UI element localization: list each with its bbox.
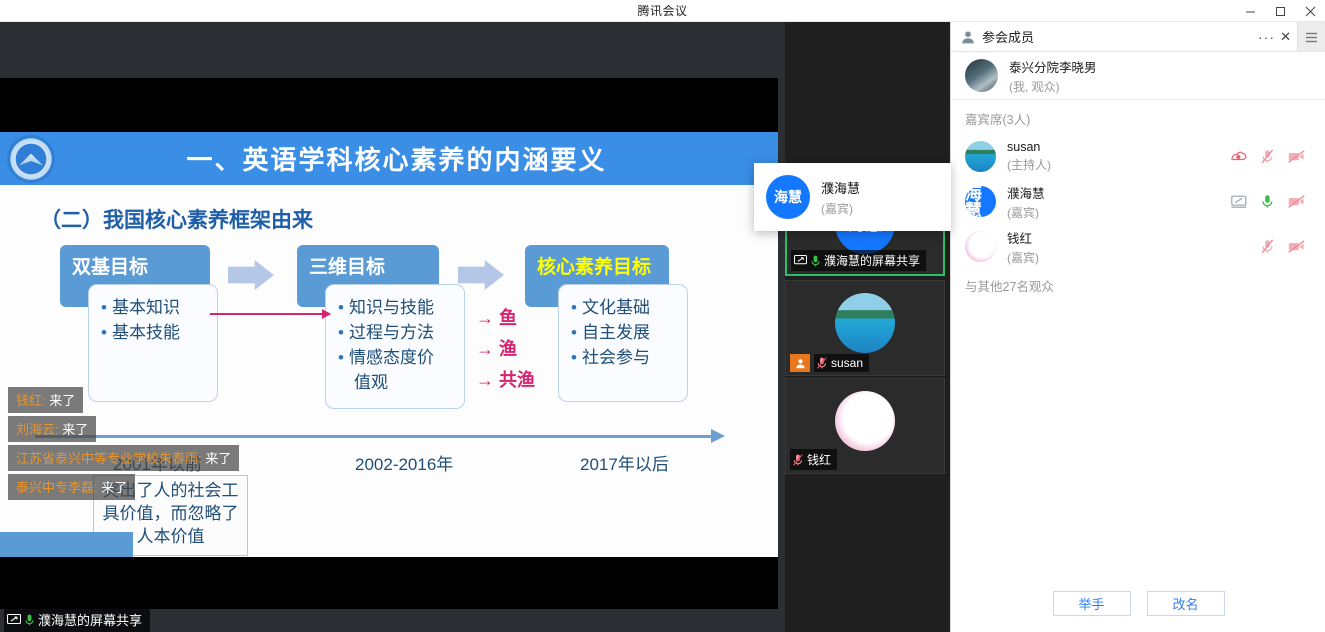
thumbnail-tile-qianhong[interactable]: 钱红 [785,378,945,474]
participant-names: 钱红 (嘉宾) [1007,228,1250,266]
thumbnail-label: susan [831,356,863,370]
list-item: •基本知识 [101,295,203,320]
pink-connector-arrow-icon [210,313,330,315]
slide-header: 一、英语学科核心素养的内涵要义 [0,132,778,185]
mic-off-icon[interactable] [1261,149,1274,164]
avatar [965,141,996,172]
participant-row[interactable]: susan (主持人) [951,134,1325,179]
mic-off-icon [793,454,803,466]
slide-title: 一、英语学科核心素养的内涵要义 [55,140,778,177]
participant-name: 濮海慧 [1007,183,1220,202]
pink-annotation-1: → 鱼 [476,304,517,330]
camera-off-icon[interactable] [1288,195,1305,208]
mic-off-icon[interactable] [1261,239,1274,254]
panel-more-button[interactable]: ··· [1258,29,1275,45]
pink-annotation-2: → 渔 [476,335,517,361]
mic-on-icon [25,614,34,626]
minimize-button[interactable] [1235,0,1265,22]
record-icon[interactable] [1231,150,1247,163]
timeline-label-3: 2017年以后 [580,450,669,475]
screen-share-icon[interactable] [1231,195,1247,208]
panel-close-button[interactable]: ✕ [1280,29,1291,45]
slide-column-2: 三维目标 •知识与技能 •过程与方法 •情感态度价 值观 [297,245,439,307]
camera-off-icon[interactable] [1288,150,1305,163]
participant-hover-tooltip: 海慧 濮海慧 (嘉宾) [754,163,951,231]
window-titlebar: 腾讯会议 [0,0,1325,22]
avatar: 海慧 [766,175,810,219]
self-names: 泰兴分院李晓男 (我, 观众) [1009,57,1097,95]
column-2-body: •知识与技能 •过程与方法 •情感态度价 值观 [325,284,465,409]
panel-footer: 举手 改名 [951,574,1325,632]
share-banner-label: 濮海慧的屏幕共享 [38,610,142,629]
chat-text: 来了 [49,393,75,408]
thumbnail-tile-susan[interactable]: susan [785,280,945,376]
participant-name: susan [1007,140,1220,154]
mic-on-icon[interactable] [1261,194,1274,209]
panel-title: 参会成员 [982,27,1034,46]
chat-text: 来了 [205,451,231,466]
avatar [835,293,895,353]
participant-name: 钱红 [1007,228,1250,247]
thumbnail-label: 濮海慧的屏幕共享 [824,252,920,269]
bullet-dot-icon: • [571,348,577,367]
rename-button[interactable]: 改名 [1147,591,1225,616]
bullet-dot-icon: • [571,323,577,342]
mic-off-icon [817,357,827,369]
avatar: 海慧 [965,186,996,217]
stage-letterbox-top [0,78,778,132]
person-icon [961,30,975,44]
participant-names: 濮海慧 (嘉宾) [1007,183,1220,221]
guest-section-label: 嘉宾席(3人) [951,100,1325,134]
screen-share-icon [794,255,807,266]
timeline-axis [35,435,715,438]
window-controls [1235,0,1325,22]
participant-status-icons [1231,149,1313,164]
participants-panel: 参会成员 ··· ✕ 泰兴分院李晓男 (我, 观众) 嘉宾席(3人) [950,22,1325,632]
list-item: •基本技能 [101,320,203,345]
chat-message: 刘海云: 来了 [8,416,96,442]
chevron-arrow-1-icon [228,260,274,290]
close-button[interactable] [1295,0,1325,22]
stage-letterbox-bottom [0,557,778,609]
slide-subtitle: （二）我国核心素养框架由来 [40,204,313,234]
bullet-dot-icon: • [101,323,107,342]
other-attendees-label: 与其他27名观众 [951,269,1325,295]
window-title: 腾讯会议 [637,2,687,19]
highlighted-item: •知识与技能 [338,298,434,317]
maximize-button[interactable] [1265,0,1295,22]
host-badge-icon [790,354,810,372]
participant-status-icons [1261,239,1313,254]
thumbnail-label-group: susan [814,354,869,372]
participant-row[interactable]: 海慧 濮海慧 (嘉宾) [951,179,1325,224]
thumbnail-label: 钱红 [807,451,831,468]
chat-sender: 泰兴中专李磊: [16,480,98,495]
pink-annotation-3: → 共渔 [476,366,535,392]
list-item: •社会参与 [571,345,673,370]
thumbnail-label-group: 濮海慧的屏幕共享 [791,250,926,271]
video-thumbnail-strip: 海慧 濮海慧的屏幕共享 [785,22,950,632]
list-item: •知识与技能 [338,295,450,320]
camera-off-icon[interactable] [1288,240,1305,253]
participant-row[interactable]: 钱红 (嘉宾) [951,224,1325,269]
slide-column-1: 双基目标 •基本知识 •基本技能 [60,245,210,307]
slide-column-3: 核心素养目标 •文化基础 •自主发展 •社会参与 [525,245,669,307]
participant-row-self[interactable]: 泰兴分院李晓男 (我, 观众) [951,52,1325,100]
raise-hand-button[interactable]: 举手 [1053,591,1131,616]
bullet-dot-icon: • [571,298,577,317]
list-item: •情感态度价 [338,345,450,370]
app-root: 腾讯会议 一、英语学科核心素养的内涵要义 （二）我国核心素养框架由来 [0,0,1325,632]
bullet-dot-icon: • [338,298,344,317]
slide-footer-bar [0,532,133,557]
hamburger-icon [1305,32,1318,43]
avatar [965,59,998,92]
panel-menu-button[interactable] [1297,22,1325,52]
participant-role: (嘉宾) [1007,249,1250,266]
list-item: •自主发展 [571,320,673,345]
participant-role: (我, 观众) [1009,78,1097,95]
list-item: •过程与方法 [338,320,450,345]
list-item: 值观 [338,370,450,395]
chat-message: 钱红: 来了 [8,387,83,413]
mic-on-icon [811,255,820,267]
timeline-label-1: 2001年以前 [113,450,202,475]
thumbnail-label-group: 钱红 [790,449,837,470]
school-logo-icon [7,135,55,183]
tooltip-name: 濮海慧 [821,178,860,197]
avatar [965,231,996,262]
tooltip-role: (嘉宾) [821,200,860,217]
timeline-label-2: 2002-2016年 [355,450,453,475]
screen-share-icon [7,614,21,626]
bullet-dot-icon: • [101,298,107,317]
chevron-arrow-2-icon [458,260,504,290]
column-3-body: •文化基础 •自主发展 •社会参与 [558,284,688,402]
panel-header: 参会成员 ··· ✕ [951,22,1325,52]
participant-name: 泰兴分院李晓男 [1009,57,1097,76]
screen-share-banner: 濮海慧的屏幕共享 [4,608,150,632]
presentation-slide: 一、英语学科核心素养的内涵要义 （二）我国核心素养框架由来 双基目标 •基本知识… [0,132,778,557]
bullet-dot-icon: • [338,323,344,342]
participant-role: (主持人) [1007,156,1220,173]
participant-role: (嘉宾) [1007,204,1220,221]
column-1-body: •基本知识 •基本技能 [88,284,218,402]
list-item: •文化基础 [571,295,673,320]
bullet-dot-icon: • [338,348,344,367]
participant-status-icons [1231,194,1313,209]
chat-sender: 钱红: [16,393,46,408]
avatar [835,391,895,451]
participant-names: susan (主持人) [1007,140,1220,173]
